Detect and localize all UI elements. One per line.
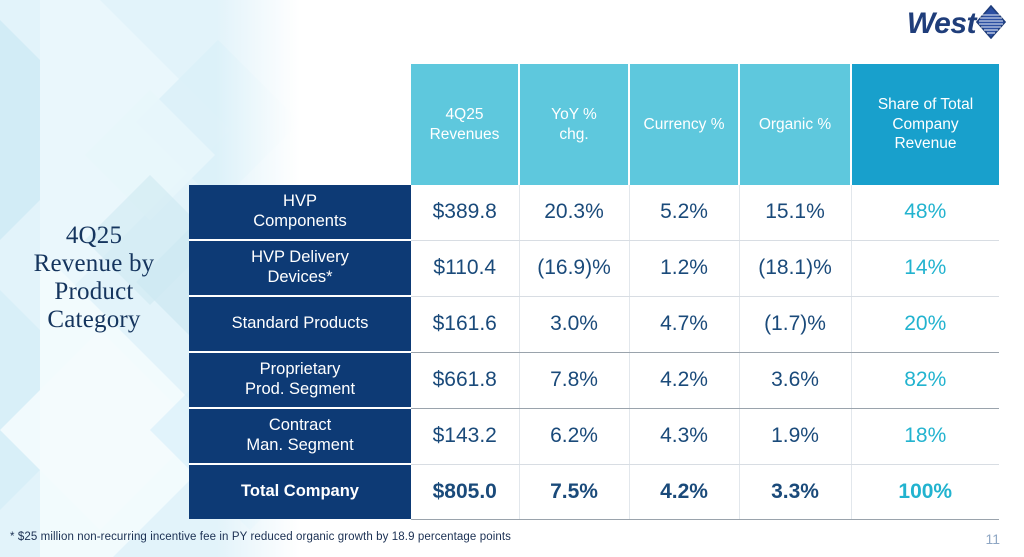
column-header-revenues-line-1: 4Q25 [411, 105, 518, 124]
table-row: HVP Delivery Devices* $110.4 (16.9)% 1.2… [189, 240, 999, 296]
cell-organic: 1.9% [739, 408, 851, 464]
row-label-line-1: Contract [197, 416, 403, 436]
row-label-line-1: Total Company [197, 482, 403, 502]
cell-revenue: $389.8 [411, 185, 519, 240]
cell-yoy: 6.2% [519, 408, 629, 464]
west-diamond-icon [976, 5, 1006, 44]
row-label-standard-products: Standard Products [189, 296, 411, 352]
column-header-yoy: YoY % chg. [519, 64, 629, 185]
cell-share: 100% [851, 464, 999, 519]
column-header-organic: Organic % [739, 64, 851, 185]
column-header-blank [189, 64, 411, 185]
column-header-share-line-1: Share of Total [852, 95, 999, 114]
footnote: * $25 million non-recurring incentive fe… [10, 531, 511, 543]
row-label-line-1: HVP [197, 192, 403, 212]
row-label-line-1: Proprietary [197, 360, 403, 380]
table-body: HVP Components $389.8 20.3% 5.2% 15.1% 4… [189, 185, 999, 519]
cell-currency: 4.7% [629, 296, 739, 352]
row-label-line-2: Components [197, 212, 403, 232]
column-header-share-line-2: Company [852, 115, 999, 134]
cell-share: 48% [851, 185, 999, 240]
revenue-table-container: 4Q25 Revenues YoY % chg. Currency % Orga… [189, 64, 999, 520]
row-label-line-2: Man. Segment [197, 436, 403, 456]
cell-currency: 4.3% [629, 408, 739, 464]
cell-organic: 3.6% [739, 352, 851, 408]
slide-canvas: West 4Q25 Revenue by Product Category [0, 0, 1024, 557]
cell-organic: 3.3% [739, 464, 851, 519]
cell-currency: 5.2% [629, 185, 739, 240]
cell-organic: (18.1)% [739, 240, 851, 296]
cell-revenue: $661.8 [411, 352, 519, 408]
column-header-currency: Currency % [629, 64, 739, 185]
logo-wordmark: West [907, 9, 976, 39]
page-title-line-4: Category [4, 306, 184, 334]
cell-organic: (1.7)% [739, 296, 851, 352]
cell-yoy: 7.5% [519, 464, 629, 519]
column-header-share-of-total: Share of Total Company Revenue [851, 64, 999, 185]
table-row: Contract Man. Segment $143.2 6.2% 4.3% 1… [189, 408, 999, 464]
cell-organic: 15.1% [739, 185, 851, 240]
cell-share: 14% [851, 240, 999, 296]
cell-yoy: 3.0% [519, 296, 629, 352]
table-row: Proprietary Prod. Segment $661.8 7.8% 4.… [189, 352, 999, 408]
cell-yoy: 20.3% [519, 185, 629, 240]
cell-revenue: $110.4 [411, 240, 519, 296]
column-header-revenues: 4Q25 Revenues [411, 64, 519, 185]
cell-revenue: $161.6 [411, 296, 519, 352]
row-label-line-2: Devices* [197, 268, 403, 288]
column-header-yoy-line-1: YoY % [520, 105, 628, 124]
column-header-organic-line-1: Organic % [740, 115, 850, 134]
page-title-line-2: Revenue by [4, 250, 184, 278]
cell-currency: 4.2% [629, 352, 739, 408]
row-label-line-2: Prod. Segment [197, 380, 403, 400]
page-title: 4Q25 Revenue by Product Category [4, 222, 184, 334]
cell-share: 20% [851, 296, 999, 352]
west-logo: West [907, 4, 1006, 44]
column-header-yoy-line-2: chg. [520, 125, 628, 144]
cell-currency: 4.2% [629, 464, 739, 519]
column-header-currency-line-1: Currency % [630, 115, 738, 134]
row-label-hvp-components: HVP Components [189, 185, 411, 240]
row-label-line-1: HVP Delivery [197, 248, 403, 268]
row-label-line-1: Standard Products [197, 314, 403, 334]
revenue-by-product-category-table: 4Q25 Revenues YoY % chg. Currency % Orga… [189, 64, 999, 520]
table-row: Standard Products $161.6 3.0% 4.7% (1.7)… [189, 296, 999, 352]
row-label-total-company: Total Company [189, 464, 411, 519]
row-label-contract-man-segment: Contract Man. Segment [189, 408, 411, 464]
cell-share: 18% [851, 408, 999, 464]
cell-yoy: (16.9)% [519, 240, 629, 296]
cell-share: 82% [851, 352, 999, 408]
page-title-line-3: Product [4, 278, 184, 306]
row-label-hvp-delivery-devices: HVP Delivery Devices* [189, 240, 411, 296]
cell-revenue: $143.2 [411, 408, 519, 464]
table-row-total: Total Company $805.0 7.5% 4.2% 3.3% 100% [189, 464, 999, 519]
page-title-line-1: 4Q25 [4, 222, 184, 250]
cell-revenue: $805.0 [411, 464, 519, 519]
table-header: 4Q25 Revenues YoY % chg. Currency % Orga… [189, 64, 999, 185]
cell-currency: 1.2% [629, 240, 739, 296]
page-number: 11 [985, 531, 1000, 547]
cell-yoy: 7.8% [519, 352, 629, 408]
column-header-revenues-line-2: Revenues [411, 125, 518, 144]
table-row: HVP Components $389.8 20.3% 5.2% 15.1% 4… [189, 185, 999, 240]
table-header-row: 4Q25 Revenues YoY % chg. Currency % Orga… [189, 64, 999, 185]
column-header-share-line-3: Revenue [852, 134, 999, 153]
row-label-proprietary-prod-segment: Proprietary Prod. Segment [189, 352, 411, 408]
